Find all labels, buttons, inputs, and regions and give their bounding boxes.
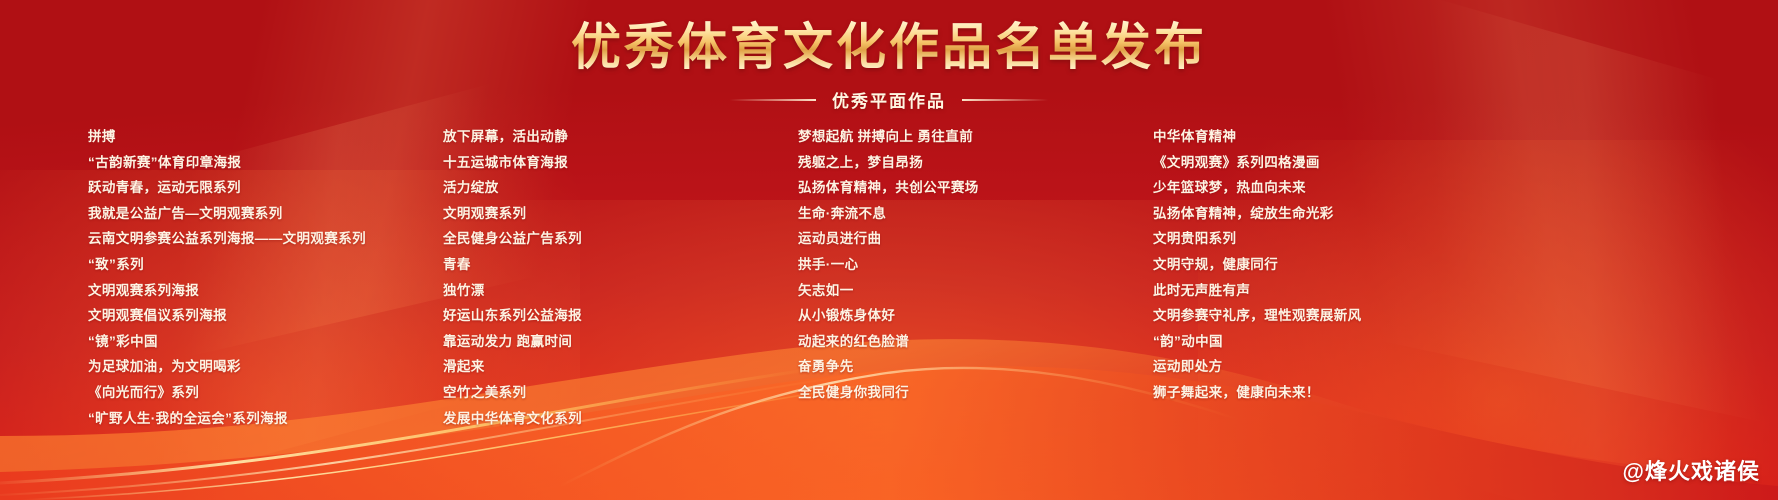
works-column-1: 拼搏“古韵新赛”体育印章海报跃动青春，运动无限系列我就是公益广告—文明观赛系列云… <box>0 124 443 431</box>
list-item: 运动员进行曲 <box>798 226 1153 252</box>
subtitle-rule-left <box>730 99 816 101</box>
list-item: “韵”动中国 <box>1153 329 1513 355</box>
list-item: “致”系列 <box>88 252 443 278</box>
list-item: 十五运城市体育海报 <box>443 150 798 176</box>
list-item: 少年篮球梦，热血向未来 <box>1153 175 1513 201</box>
list-item: 全民健身公益广告系列 <box>443 226 798 252</box>
works-list: 拼搏“古韵新赛”体育印章海报跃动青春，运动无限系列我就是公益广告—文明观赛系列云… <box>0 124 1778 431</box>
list-item: 《文明观赛》系列四格漫画 <box>1153 150 1513 176</box>
list-item: 发展中华体育文化系列 <box>443 406 798 432</box>
page-title: 优秀体育文化作品名单发布 <box>571 20 1207 75</box>
subtitle-rule-right <box>962 99 1048 101</box>
list-item: 云南文明参赛公益系列海报——文明观赛系列 <box>88 226 443 252</box>
list-item: 生命·奔流不息 <box>798 201 1153 227</box>
list-item: 独竹漂 <box>443 278 798 304</box>
list-item: 梦想起航 拼搏向上 勇往直前 <box>798 124 1153 150</box>
list-item: 文明贵阳系列 <box>1153 226 1513 252</box>
subtitle: 优秀平面作品 <box>832 87 946 112</box>
list-item: 青春 <box>443 252 798 278</box>
list-item: 运动即处方 <box>1153 354 1513 380</box>
list-item: 文明观赛系列 <box>443 201 798 227</box>
list-item: 残躯之上，梦自昂扬 <box>798 150 1153 176</box>
list-item: 靠运动发力 跑赢时间 <box>443 329 798 355</box>
list-item: 文明守规，健康同行 <box>1153 252 1513 278</box>
list-item: 狮子舞起来，健康向未来！ <box>1153 380 1513 406</box>
list-item: “镜”彩中国 <box>88 329 443 355</box>
list-item: 跃动青春，运动无限系列 <box>88 175 443 201</box>
watermark: @烽火戏诸侯 <box>1623 454 1760 486</box>
list-item: 好运山东系列公益海报 <box>443 303 798 329</box>
list-item: “旷野人生·我的全运会”系列海报 <box>88 406 443 432</box>
header: 优秀体育文化作品名单发布 优秀平面作品 <box>0 20 1778 112</box>
list-item: 我就是公益广告—文明观赛系列 <box>88 201 443 227</box>
list-item: 动起来的红色脸谱 <box>798 329 1153 355</box>
list-item: 弘扬体育精神，共创公平赛场 <box>798 175 1153 201</box>
list-item: 放下屏幕，活出动静 <box>443 124 798 150</box>
list-item: 拼搏 <box>88 124 443 150</box>
list-item: 文明观赛系列海报 <box>88 278 443 304</box>
list-item: 《向光而行》系列 <box>88 380 443 406</box>
works-column-4: 中华体育精神《文明观赛》系列四格漫画少年篮球梦，热血向未来弘扬体育精神，绽放生命… <box>1153 124 1513 431</box>
list-item: 中华体育精神 <box>1153 124 1513 150</box>
list-item: 文明参赛守礼序，理性观赛展新风 <box>1153 303 1513 329</box>
list-item: 奋勇争先 <box>798 354 1153 380</box>
list-item: 矢志如一 <box>798 278 1153 304</box>
list-item: 从小锻炼身体好 <box>798 303 1153 329</box>
works-column-2: 放下屏幕，活出动静十五运城市体育海报活力绽放文明观赛系列全民健身公益广告系列青春… <box>443 124 798 431</box>
list-item: 全民健身你我同行 <box>798 380 1153 406</box>
list-item: 滑起来 <box>443 354 798 380</box>
list-item: “古韵新赛”体育印章海报 <box>88 150 443 176</box>
list-item: 空竹之美系列 <box>443 380 798 406</box>
subtitle-row: 优秀平面作品 <box>0 87 1778 112</box>
list-item: 文明观赛倡议系列海报 <box>88 303 443 329</box>
list-item: 弘扬体育精神，绽放生命光彩 <box>1153 201 1513 227</box>
works-column-3: 梦想起航 拼搏向上 勇往直前残躯之上，梦自昂扬弘扬体育精神，共创公平赛场生命·奔… <box>798 124 1153 431</box>
list-item: 拱手·一心 <box>798 252 1153 278</box>
list-item: 活力绽放 <box>443 175 798 201</box>
list-item: 为足球加油，为文明喝彩 <box>88 354 443 380</box>
banner-poster: 优秀体育文化作品名单发布 优秀平面作品 拼搏“古韵新赛”体育印章海报跃动青春，运… <box>0 0 1778 500</box>
list-item: 此时无声胜有声 <box>1153 278 1513 304</box>
